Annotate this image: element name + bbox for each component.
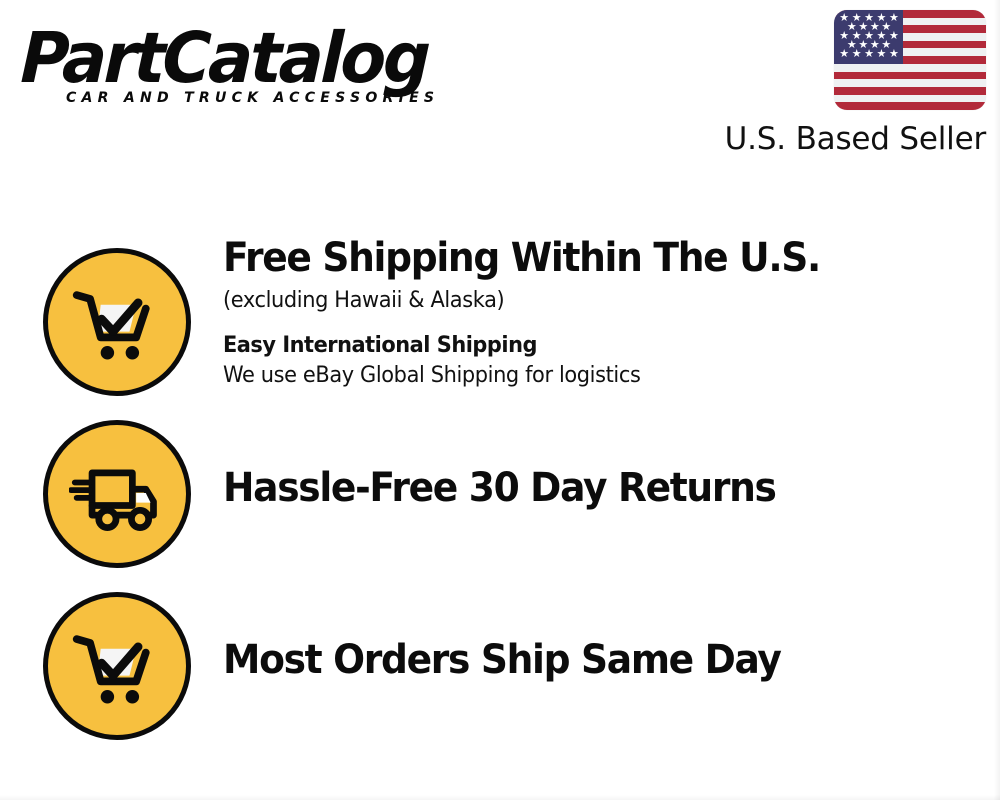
- brand-wordmark: PartCatalog: [20, 22, 469, 94]
- delivery-truck-icon: [43, 420, 191, 568]
- benefit-row: Hassle-Free 30 Day Returns: [0, 402, 1000, 574]
- seller-banner: PartCatalog CAR AND TRUCK ACCESSORIES: [0, 0, 1000, 800]
- flag-stripe: [834, 72, 986, 80]
- benefit-subtitle-strong: Easy International Shipping: [223, 331, 926, 361]
- benefit-subtitle: We use eBay Global Shipping for logistic…: [223, 361, 926, 391]
- flag-star: ★: [839, 49, 849, 60]
- benefit-text: Most Orders Ship Same Day: [223, 636, 963, 684]
- shopping-cart-check-icon: [43, 248, 191, 396]
- edge-shade-bottom: [0, 795, 1000, 800]
- benefits-list: Free Shipping Within The U.S. (excluding…: [0, 230, 1000, 746]
- flag-star: ★: [852, 49, 862, 60]
- seller-label: U.S. Based Seller: [720, 121, 986, 157]
- flag-star: ★: [877, 49, 887, 60]
- flag-stripe: [834, 79, 986, 87]
- flag-stripe: [834, 95, 986, 103]
- benefit-row: Most Orders Ship Same Day: [0, 574, 1000, 746]
- flag-stripe: [834, 64, 986, 72]
- benefit-text: Hassle-Free 30 Day Returns: [223, 464, 963, 512]
- us-based-seller-badge: ★ ★ ★ ★ ★ ★ ★ ★ ★ ★ ★ ★ ★ ★: [720, 10, 986, 157]
- flag-stripe: [834, 87, 986, 95]
- flag-star-row: ★ ★ ★ ★ ★: [838, 50, 900, 59]
- shopping-cart-check-icon: [43, 592, 191, 740]
- flag-stripe: [834, 102, 986, 110]
- benefit-subtitle: (excluding Hawaii & Alaska): [223, 286, 926, 316]
- flag-canton: ★ ★ ★ ★ ★ ★ ★ ★ ★ ★ ★ ★ ★ ★: [834, 10, 903, 64]
- flag-star: ★: [889, 49, 899, 60]
- brand-tagline: CAR AND TRUCK ACCESSORIES: [66, 90, 479, 106]
- benefit-row: Free Shipping Within The U.S. (excluding…: [0, 230, 1000, 402]
- benefit-title: Free Shipping Within The U.S.: [223, 234, 919, 282]
- benefit-title: Hassle-Free 30 Day Returns: [223, 464, 919, 512]
- benefit-text: Free Shipping Within The U.S. (excluding…: [223, 234, 963, 391]
- benefit-title: Most Orders Ship Same Day: [223, 636, 919, 684]
- brand-logo: PartCatalog CAR AND TRUCK ACCESSORIES: [22, 22, 492, 122]
- us-flag-icon: ★ ★ ★ ★ ★ ★ ★ ★ ★ ★ ★ ★ ★ ★: [834, 10, 986, 110]
- flag-star: ★: [864, 49, 874, 60]
